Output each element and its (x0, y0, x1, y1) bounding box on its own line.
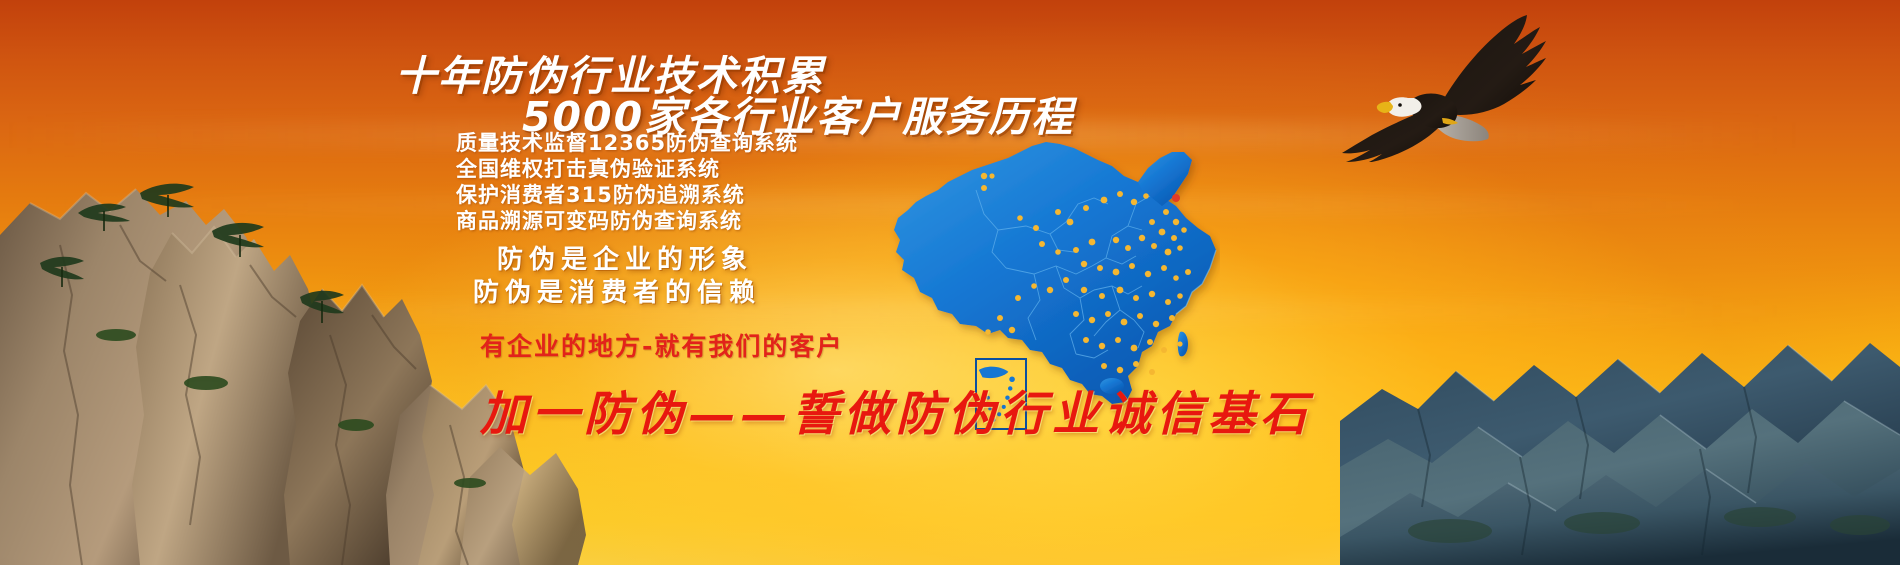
eagle-image (1330, 2, 1590, 162)
system-item-3: 保护消费者315防伪追溯系统 (456, 183, 745, 208)
customer-tagline: 有企业的地方-就有我们的客户 (480, 327, 843, 363)
system-item-2: 全国维权打击真伪验证系统 (456, 157, 720, 182)
slogan-line-1: 防伪是企业的形象 (497, 239, 753, 276)
company-slogan: 加一防伪——誓做防伪行业诚信基石 (480, 375, 1312, 444)
system-item-1: 质量技术监督12365防伪查询系统 (456, 131, 798, 156)
promotional-banner: 十年防伪行业技术积累 5000家各行业客户服务历程 质量技术监督12365防伪查… (0, 0, 1900, 565)
china-map (880, 118, 1220, 418)
slogan-line-2: 防伪是消费者的信赖 (473, 272, 761, 309)
right-mountain-range (1340, 225, 1900, 565)
system-item-4: 商品溯源可变码防伪查询系统 (456, 209, 742, 234)
